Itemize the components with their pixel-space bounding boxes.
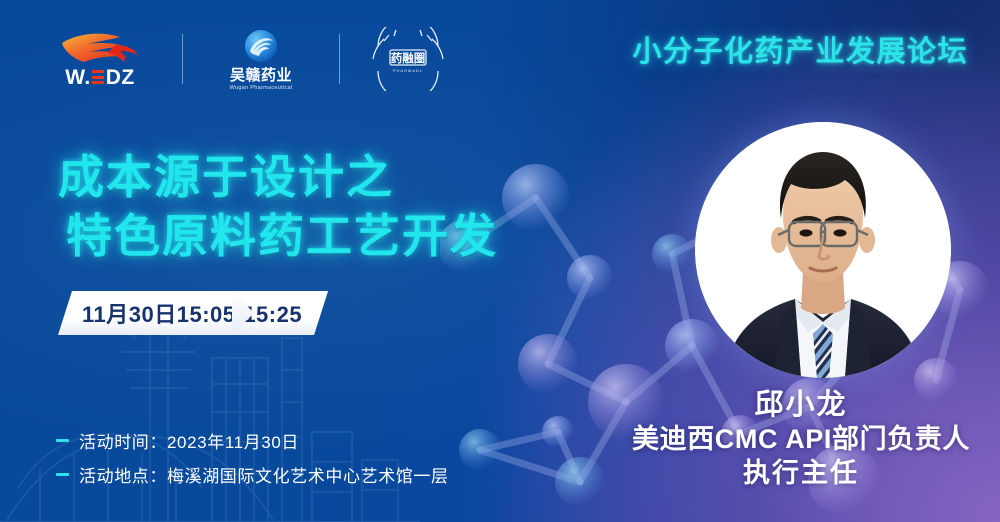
info-row-time: 活动时间：2023年11月30日: [56, 428, 449, 453]
logo-wedz-prefix: W.: [65, 67, 91, 88]
logo-divider-1: [182, 34, 183, 84]
logo-divider-2: [339, 34, 340, 84]
logo-wedz-text: W. DZ: [65, 67, 135, 88]
speaker-name: 邱小龙: [620, 388, 982, 423]
event-banner: W. DZ: [0, 0, 1000, 522]
globe-wave-icon: [241, 27, 281, 67]
headline-line-1: 成本源于设计之: [58, 148, 498, 207]
circular-badge-icon: 药融圈 PHARMADL: [364, 27, 452, 91]
info-location-text: 活动地点：梅溪湖国际文化艺术中心艺术馆一层: [79, 462, 449, 487]
headline-line-2: 特色原料药工艺开发: [66, 207, 498, 266]
speaker-role: 美迪西CMC API部门负责人: [620, 423, 982, 457]
svg-text:PHARMADL: PHARMADL: [393, 68, 423, 73]
info-row-location: 活动地点：梅溪湖国际文化艺术中心艺术馆一层: [56, 462, 449, 487]
logo-wugan-cn: 吴赣药业: [230, 68, 292, 85]
headline: 成本源于设计之 特色原料药工艺开发: [58, 148, 498, 266]
phoenix-flame-icon: [58, 31, 142, 65]
event-info-list: 活动时间：2023年11月30日 活动地点：梅溪湖国际文化艺术中心艺术馆一层: [56, 428, 449, 496]
logo-wedz[interactable]: W. DZ: [40, 31, 160, 88]
dash-bullet-icon: [56, 439, 69, 442]
logo-wugan-en: Wugan Pharmaceutical: [230, 85, 293, 91]
speaker-title: 执行主任: [620, 457, 982, 491]
logo-yaorongquan[interactable]: 药融圈 PHARMADL: [362, 26, 454, 92]
logo-wedz-equal-mark: [92, 70, 104, 84]
date-time-badge: 11月30日15:05-15:25: [58, 291, 328, 335]
speaker-portrait: [695, 122, 951, 378]
sponsor-logo-bar: W. DZ: [40, 24, 454, 94]
logo-wugan[interactable]: 吴赣药业 Wugan Pharmaceutical: [205, 27, 317, 92]
forum-title: 小分子化药产业发展论坛: [632, 38, 968, 67]
speaker-info: 邱小龙 美迪西CMC API部门负责人 执行主任: [620, 388, 982, 491]
svg-text:药融圈: 药融圈: [391, 51, 426, 65]
info-time-text: 活动时间：2023年11月30日: [79, 428, 299, 453]
dash-bullet-icon: [56, 473, 69, 476]
logo-wedz-suffix: DZ: [106, 67, 135, 88]
